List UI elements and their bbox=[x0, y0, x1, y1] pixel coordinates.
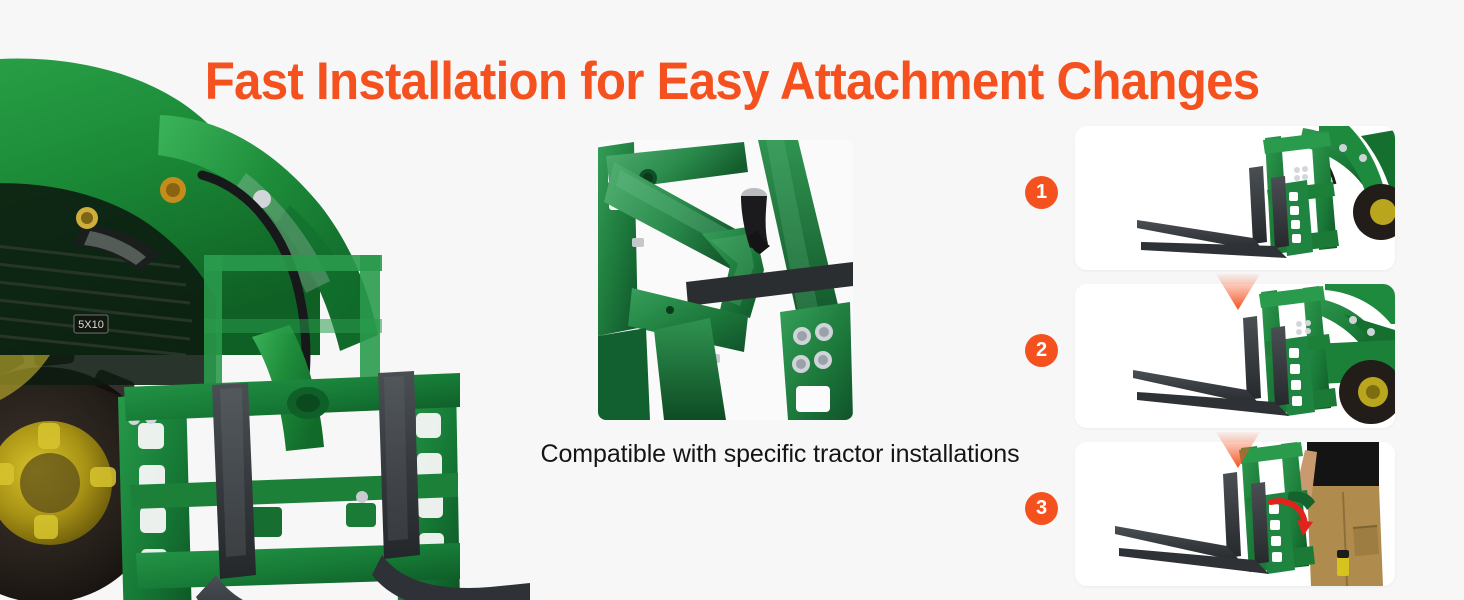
step-row-2: 2 Loader arms aligned and seated into th… bbox=[1000, 284, 1410, 428]
center-caption: Compatible with specific tractor install… bbox=[470, 437, 1090, 471]
installation-steps: 1 Tractor loader approaching the green p… bbox=[1000, 126, 1410, 594]
center-photo-alt: Close-up of green pallet fork frame show… bbox=[598, 140, 599, 141]
step-badge-2: 2 bbox=[1025, 334, 1058, 367]
step-badge-1: 1 bbox=[1025, 176, 1058, 209]
step-row-1: 1 Tractor loader approaching the green p… bbox=[1000, 126, 1410, 270]
promo-banner: Fast Installation for Easy Attachment Ch… bbox=[0, 0, 1464, 600]
step-3-photo-alt: Operator in black shirt and khaki pants … bbox=[1075, 442, 1076, 443]
step-row-3: 3 Operator in black shirt and khaki pant… bbox=[1000, 442, 1410, 586]
center-detail-photo: Close-up of green pallet fork frame show… bbox=[598, 140, 853, 420]
down-arrow-icon-2 bbox=[1210, 430, 1266, 470]
step-1-photo-alt: Tractor loader approaching the green pal… bbox=[1075, 126, 1076, 127]
center-detail-illustration bbox=[598, 140, 853, 420]
hero-illustration: 5X10 bbox=[0, 55, 530, 600]
step-card-1[interactable]: Tractor loader approaching the green pal… bbox=[1075, 126, 1395, 270]
step-2-photo-alt: Loader arms aligned and seated into the … bbox=[1075, 284, 1076, 285]
step-badge-3: 3 bbox=[1025, 492, 1058, 525]
step-1-illustration bbox=[1075, 126, 1395, 270]
down-arrow-icon-1 bbox=[1210, 272, 1266, 312]
svg-text:5X10: 5X10 bbox=[78, 319, 104, 331]
hero-product-image: Green tractor with front loader carrying… bbox=[0, 55, 530, 600]
tractor-model-badge: 5X10 bbox=[74, 315, 108, 333]
